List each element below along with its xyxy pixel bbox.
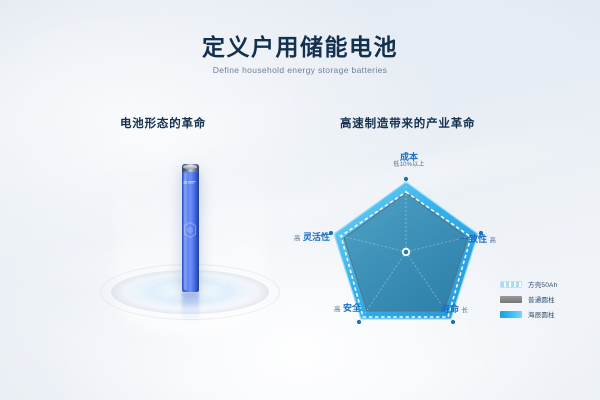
radar-axis-note-flexibility: 高: [294, 235, 301, 242]
chart-legend: 方壳50Ah 普通圆柱 海辰圆柱: [500, 279, 557, 319]
section-heading-manufacturing: 高速制造带来的产业革命: [340, 115, 475, 131]
radar-axis-note-cost: 低10%以上: [379, 162, 439, 169]
legend-item: 方壳50Ah: [500, 279, 557, 289]
radar-chart: 成本 低10%以上 高 灵活性 一致性 高 高 安全 寿命 长: [296, 148, 516, 338]
sparkle: [137, 278, 139, 280]
slide-canvas: 定义户用储能电池 Define household energy storage…: [0, 0, 600, 400]
radar-axis-note-lifespan: 长: [462, 307, 469, 314]
radar-axis-label-lifespan: 寿命 长: [441, 304, 468, 314]
legend-item: 海辰圆柱: [500, 309, 557, 319]
battery-reflection: [182, 292, 199, 324]
legend-label: 方壳50Ah: [528, 279, 557, 289]
sparkle: [223, 282, 225, 284]
radar-axis-label-flexibility: 高 灵活性: [294, 232, 330, 242]
radar-axis-note-consistency: 高: [490, 237, 497, 244]
title-block: 定义户用储能电池 Define household energy storage…: [0, 36, 600, 75]
radar-axis-label-safety: 高 安全: [334, 303, 361, 313]
battery-visual: [95, 150, 285, 340]
radar-center-core: [404, 250, 408, 254]
battery-emblem-icon: [184, 222, 197, 238]
page-subtitle: Define household energy storage batterie…: [0, 66, 600, 75]
battery-terminal-cap: [182, 164, 199, 172]
legend-label: 普通圆柱: [528, 294, 555, 304]
sparkle: [245, 246, 247, 248]
radar-axis-label-consistency: 一致性 高: [460, 234, 496, 244]
legend-label: 海辰圆柱: [528, 309, 555, 319]
section-heading-battery-form: 电池形态的革命: [120, 115, 206, 131]
sparkle: [119, 202, 121, 204]
legend-swatch-hichain: [500, 311, 522, 318]
legend-swatch-ordinary: [500, 296, 522, 303]
sparkle: [233, 184, 235, 186]
cylindrical-battery-cell: [182, 164, 199, 292]
page-title: 定义户用储能电池: [0, 36, 600, 59]
hichain-logo-icon: [184, 180, 197, 185]
radar-axis-label-cost: 成本 低10%以上: [379, 152, 439, 169]
legend-swatch-prismatic: [500, 281, 522, 288]
legend-item: 普通圆柱: [500, 294, 557, 304]
radar-axis-note-safety: 高: [334, 306, 341, 313]
